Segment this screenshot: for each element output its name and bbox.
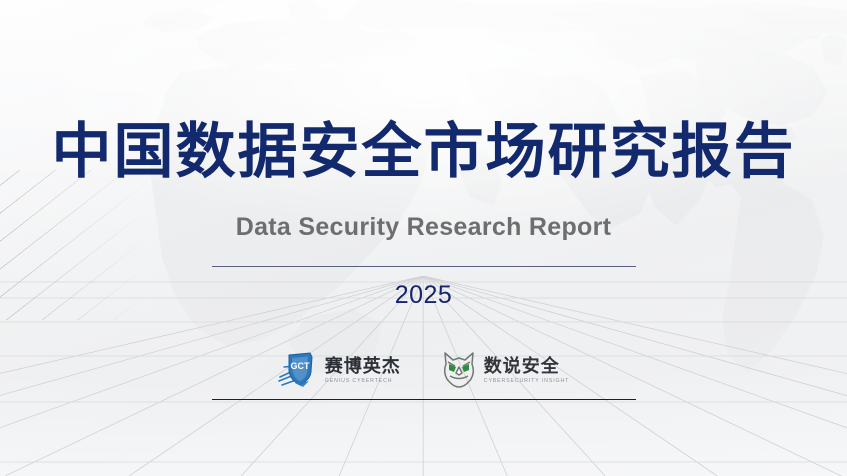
- owl-icon: [441, 348, 477, 393]
- page-subtitle: Data Security Research Report: [0, 215, 847, 240]
- divider-bottom: [212, 399, 636, 400]
- logo-gct-name-cn: 赛博英杰: [325, 357, 401, 376]
- logo-owl: 数说安全 CYBERSECURITY INSIGHT: [441, 348, 569, 393]
- logo-gct: GCT 赛博英杰 GENIUS CYBERTECH: [278, 349, 401, 392]
- report-year: 2025: [0, 283, 847, 308]
- logo-owl-name-cn: 数说安全: [484, 357, 560, 376]
- divider-top: [212, 266, 636, 267]
- page-title: 中国数据安全市场研究报告: [0, 122, 847, 182]
- title-slide: 中国数据安全市场研究报告 Data Security Research Repo…: [0, 0, 847, 476]
- shield-gct-letters: GCT: [290, 361, 310, 371]
- shield-gct-icon: GCT: [278, 349, 318, 392]
- logo-owl-name-en: CYBERSECURITY INSIGHT: [484, 378, 569, 385]
- logo-owl-text: 数说安全 CYBERSECURITY INSIGHT: [484, 357, 569, 385]
- logo-gct-name-en: GENIUS CYBERTECH: [325, 378, 393, 385]
- logo-gct-text: 赛博英杰 GENIUS CYBERTECH: [325, 357, 401, 385]
- logo-row: GCT 赛博英杰 GENIUS CYBERTECH: [0, 348, 847, 393]
